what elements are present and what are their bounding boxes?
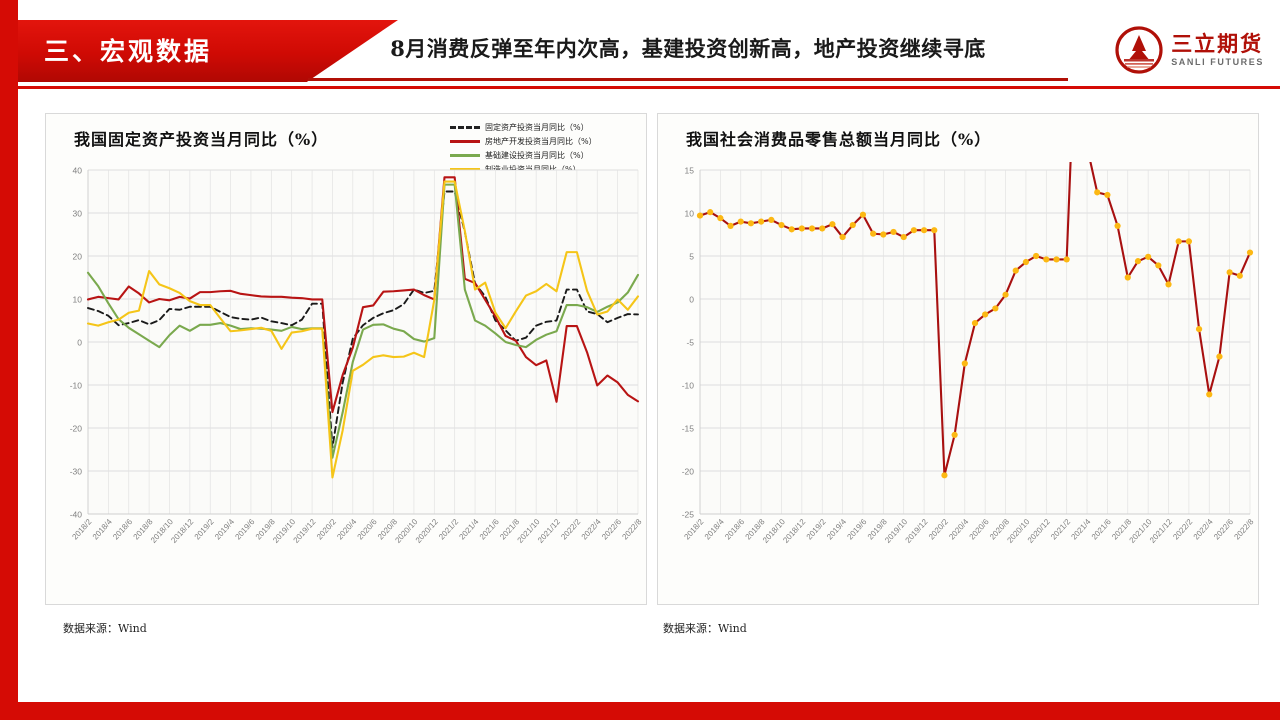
- svg-text:2021/12: 2021/12: [536, 517, 562, 545]
- logo-text-block: 三立期货 SANLI FUTURES: [1171, 33, 1264, 67]
- legend-label: 基础建设投资当月同比（%）: [485, 150, 589, 161]
- svg-text:2020/4: 2020/4: [947, 517, 970, 542]
- svg-text:2020/12: 2020/12: [414, 517, 440, 545]
- svg-text:2021/6: 2021/6: [1090, 517, 1113, 542]
- svg-text:20: 20: [73, 252, 83, 262]
- legend-swatch-green-icon: [450, 154, 480, 157]
- chart-panel-retail-sales: 我国社会消费品零售总额当月同比（%） 151050-5-10-15-20-252…: [657, 113, 1259, 605]
- chart-plot-area-left: 403020100-10-20-30-402018/22018/42018/62…: [46, 162, 648, 606]
- svg-text:2018/12: 2018/12: [169, 517, 195, 545]
- svg-text:15: 15: [685, 166, 695, 176]
- svg-text:2020/6: 2020/6: [968, 517, 991, 542]
- svg-text:2022/6: 2022/6: [600, 517, 623, 542]
- svg-text:2022/4: 2022/4: [1192, 517, 1215, 542]
- svg-text:2019/12: 2019/12: [904, 517, 930, 545]
- charts-row: 我国固定资产投资当月同比（%） 固定资产投资当月同比（%） 房地产开发投资当月同…: [45, 113, 1259, 643]
- headline-text: 8月消费反弹至年内次高，基建投资创新高，地产投资继续寻底: [318, 33, 1058, 63]
- slide-canvas: 三、宏观数据 8月消费反弹至年内次高，基建投资创新高，地产投资继续寻底 三立期货…: [18, 0, 1280, 702]
- svg-text:2018/4: 2018/4: [703, 517, 726, 542]
- svg-text:2022/4: 2022/4: [580, 517, 603, 542]
- svg-text:2022/2: 2022/2: [1171, 517, 1194, 542]
- svg-text:2019/2: 2019/2: [805, 517, 828, 542]
- source-note-left: 数据来源：Wind: [63, 620, 147, 636]
- company-logo: 三立期货 SANLI FUTURES: [1115, 26, 1264, 74]
- legend-label: 房地产开发投资当月同比（%）: [485, 136, 597, 147]
- legend-swatch-dashed-icon: [450, 126, 480, 129]
- svg-text:-10: -10: [70, 381, 83, 391]
- svg-text:2020/4: 2020/4: [335, 517, 358, 542]
- headline-underline: [308, 78, 1068, 81]
- section-title: 三、宏观数据: [44, 32, 212, 68]
- svg-text:2022/8: 2022/8: [620, 517, 643, 542]
- slide-header: 三、宏观数据 8月消费反弹至年内次高，基建投资创新高，地产投资继续寻底 三立期货…: [18, 20, 1280, 82]
- legend-label: 固定资产投资当月同比（%）: [485, 122, 589, 133]
- svg-text:2019/2: 2019/2: [193, 517, 216, 542]
- svg-text:2021/2: 2021/2: [437, 517, 460, 542]
- header-bottom-rule: [18, 86, 1280, 89]
- svg-text:2019/4: 2019/4: [213, 517, 236, 542]
- svg-text:2021/4: 2021/4: [457, 517, 480, 542]
- mountain-logo-icon: [1115, 26, 1163, 74]
- legend-item: 基础建设投资当月同比（%）: [450, 149, 597, 161]
- svg-text:2019/4: 2019/4: [825, 517, 848, 542]
- chart-panel-fixed-asset-investment: 我国固定资产投资当月同比（%） 固定资产投资当月同比（%） 房地产开发投资当月同…: [45, 113, 647, 605]
- svg-text:2020/6: 2020/6: [356, 517, 379, 542]
- svg-text:2020/2: 2020/2: [927, 517, 950, 542]
- svg-text:0: 0: [689, 295, 694, 305]
- svg-text:2018/2: 2018/2: [70, 517, 93, 542]
- svg-text:-25: -25: [682, 510, 695, 520]
- svg-text:2019/6: 2019/6: [845, 517, 868, 542]
- svg-text:2021/4: 2021/4: [1069, 517, 1092, 542]
- svg-text:10: 10: [73, 295, 83, 305]
- svg-text:2018/2: 2018/2: [682, 517, 705, 542]
- svg-text:2018/12: 2018/12: [781, 517, 807, 545]
- source-note-right: 数据来源：Wind: [663, 620, 747, 636]
- logo-name-en: SANLI FUTURES: [1171, 58, 1264, 67]
- svg-text:-30: -30: [70, 467, 83, 477]
- svg-text:40: 40: [73, 166, 83, 176]
- logo-name-cn: 三立期货: [1171, 33, 1264, 54]
- svg-text:-20: -20: [70, 424, 83, 434]
- svg-text:2020/2: 2020/2: [315, 517, 338, 542]
- svg-text:2021/2: 2021/2: [1049, 517, 1072, 542]
- svg-text:30: 30: [73, 209, 83, 219]
- svg-text:2021/6: 2021/6: [478, 517, 501, 542]
- svg-text:2021/12: 2021/12: [1148, 517, 1174, 545]
- svg-text:-5: -5: [686, 338, 694, 348]
- svg-text:2018/6: 2018/6: [111, 517, 134, 542]
- svg-text:5: 5: [689, 252, 694, 262]
- legend-item: 房地产开发投资当月同比（%）: [450, 135, 597, 147]
- svg-text:2022/6: 2022/6: [1212, 517, 1235, 542]
- svg-text:2018/4: 2018/4: [91, 517, 114, 542]
- svg-text:2020/12: 2020/12: [1026, 517, 1052, 545]
- svg-text:2022/2: 2022/2: [559, 517, 582, 542]
- svg-text:-10: -10: [682, 381, 695, 391]
- svg-text:-20: -20: [682, 467, 695, 477]
- svg-text:-40: -40: [70, 510, 83, 520]
- legend-swatch-red-icon: [450, 140, 480, 143]
- chart-title-left: 我国固定资产投资当月同比（%）: [74, 126, 328, 150]
- chart-plot-area-right: 151050-5-10-15-20-252018/22018/42018/620…: [658, 162, 1260, 606]
- svg-text:10: 10: [685, 209, 695, 219]
- svg-text:2018/6: 2018/6: [723, 517, 746, 542]
- svg-text:2022/8: 2022/8: [1232, 517, 1255, 542]
- svg-text:-15: -15: [682, 424, 695, 434]
- svg-text:2019/6: 2019/6: [233, 517, 256, 542]
- svg-text:0: 0: [77, 338, 82, 348]
- chart-title-right: 我国社会消费品零售总额当月同比（%）: [686, 126, 991, 150]
- legend-item: 固定资产投资当月同比（%）: [450, 121, 597, 133]
- svg-text:2019/12: 2019/12: [292, 517, 318, 545]
